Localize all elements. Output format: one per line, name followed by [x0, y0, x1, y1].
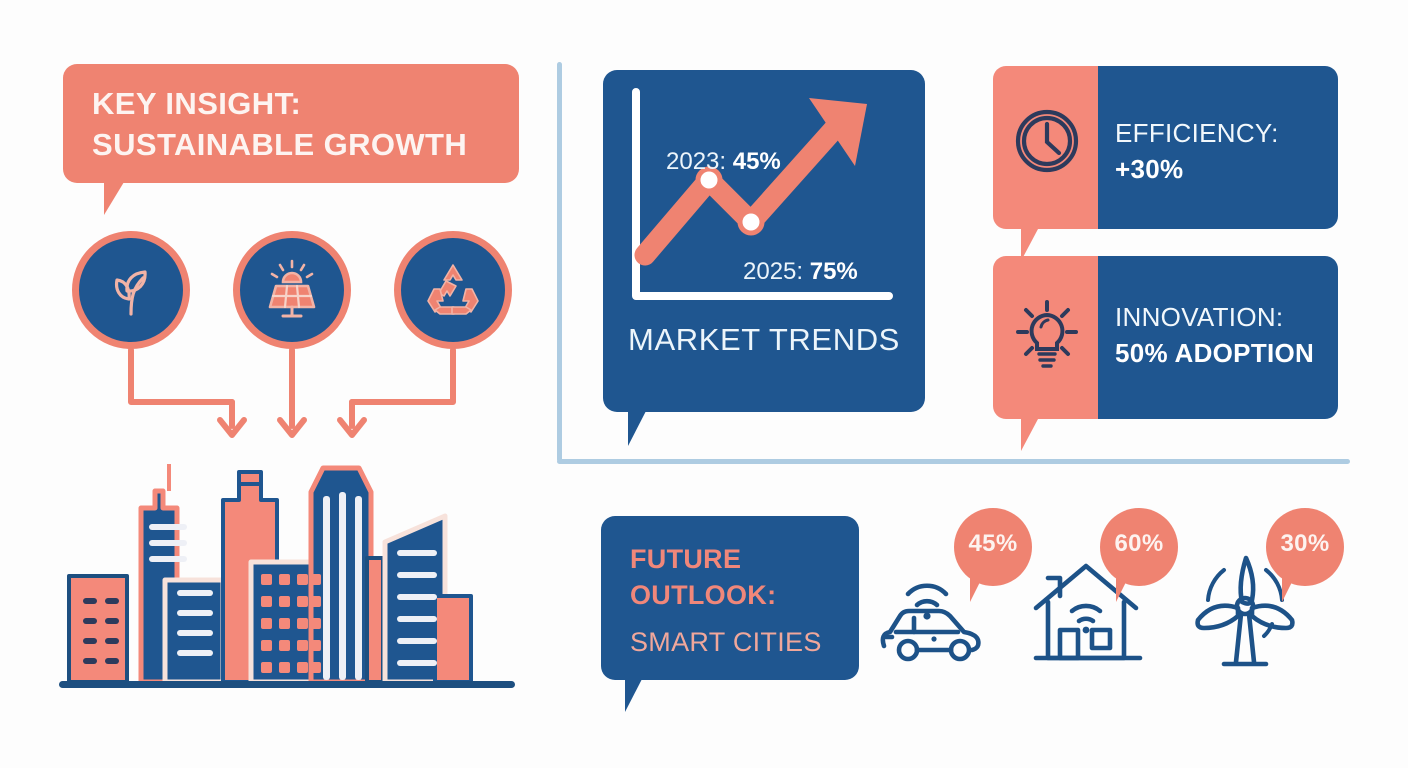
badge-tail	[1116, 578, 1142, 602]
stat-card-innovation: INNOVATION: 50% ADOPTION	[993, 256, 1338, 419]
key-insight-bubble-tail	[104, 182, 146, 215]
smart-city-badge-wind: 30%	[1266, 508, 1344, 586]
icon-circle-leaf[interactable]	[72, 231, 190, 349]
stat-body-efficiency: EFFICIENCY: +30%	[1115, 116, 1324, 188]
market-trends-caption: MARKET TRENDS	[603, 322, 925, 358]
infographic-canvas: KEY INSIGHT: SUSTAINABLE GROWTH	[0, 0, 1408, 768]
market-trends-card: 2023: 45% 2025: 75% MARKET TRENDS	[603, 70, 925, 412]
smart-city-badge-car: 45%	[954, 508, 1032, 586]
icon-circle-recycle[interactable]	[394, 231, 512, 349]
stat-body-innovation: INNOVATION: 50% ADOPTION	[1115, 300, 1324, 372]
market-trend-chart	[603, 70, 925, 340]
stat-value-efficiency: +30%	[1115, 154, 1183, 184]
future-outlook-card-tail	[625, 679, 661, 712]
badge-value-car: 45%	[954, 530, 1032, 558]
key-insight-line1: KEY INSIGHT:	[92, 84, 505, 125]
icon-circle-solar[interactable]	[233, 231, 351, 349]
key-insight-bubble: KEY INSIGHT: SUSTAINABLE GROWTH	[63, 64, 519, 183]
future-outlook-line2: OUTLOOK:	[630, 578, 776, 614]
stat-title-efficiency: EFFICIENCY:	[1115, 116, 1324, 152]
future-outlook-heading: FUTURE OUTLOOK:	[630, 542, 776, 613]
badge-value-wind: 30%	[1266, 530, 1344, 558]
city-skyline-illustration	[55, 450, 525, 700]
market-label-2025-prefix: 2025:	[743, 258, 810, 285]
stat-title-innovation: INNOVATION:	[1115, 300, 1324, 336]
market-label-2023-prefix: 2023:	[666, 148, 733, 175]
market-label-2025: 2025: 75%	[743, 258, 858, 286]
market-label-2023: 2023: 45%	[666, 148, 781, 176]
stat-value-innovation: 50% ADOPTION	[1115, 338, 1314, 368]
key-insight-line2: SUSTAINABLE GROWTH	[92, 125, 505, 166]
market-value-2025: 75%	[810, 258, 858, 285]
badge-tail	[970, 578, 996, 602]
badge-tail	[1282, 578, 1308, 602]
connector-arrows	[60, 340, 530, 460]
market-value-2023: 45%	[733, 148, 781, 175]
key-insight-text: KEY INSIGHT: SUSTAINABLE GROWTH	[92, 84, 505, 166]
badge-value-home: 60%	[1100, 530, 1178, 558]
smart-city-badge-home: 60%	[1100, 508, 1178, 586]
vertical-divider	[557, 62, 562, 462]
horizontal-divider	[557, 459, 1350, 464]
stat-card-efficiency: EFFICIENCY: +30%	[993, 66, 1338, 229]
future-outlook-line1: FUTURE	[630, 542, 776, 578]
future-outlook-subtitle: SMART CITIES	[630, 625, 822, 661]
market-trends-card-tail	[628, 411, 666, 446]
future-outlook-card: FUTURE OUTLOOK: SMART CITIES	[601, 516, 859, 680]
stat-card-innovation-tail	[1021, 419, 1056, 451]
